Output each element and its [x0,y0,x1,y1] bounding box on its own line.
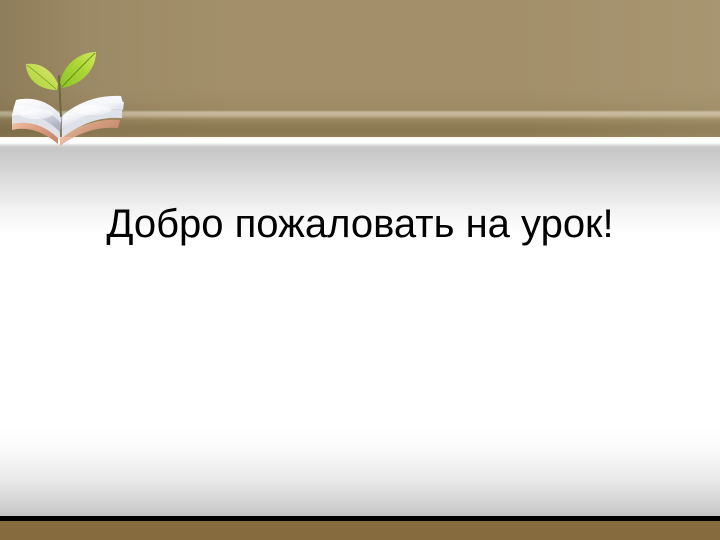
slide-title: Добро пожаловать на урок! [0,201,720,247]
page-sheen-left [19,109,53,119]
presentation-slide: Добро пожаловать на урок! fppt.com [0,0,720,540]
footer-bar: fppt.com [0,521,720,540]
page-sheen-right [73,105,111,115]
slide-body-background [0,138,720,540]
open-book-sprout-icon [4,48,144,148]
